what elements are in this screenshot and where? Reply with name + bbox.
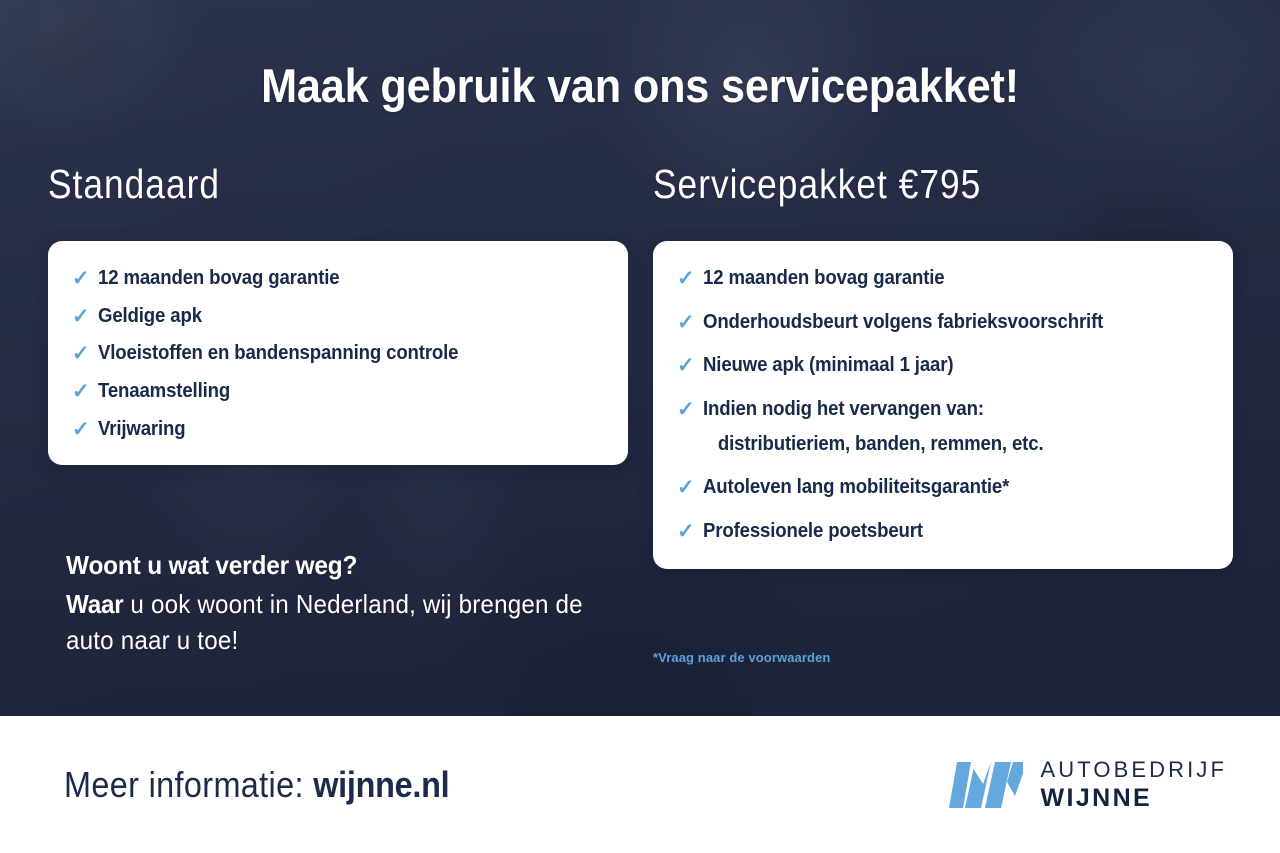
- list-item-label: Onderhoudsbeurt volgens fabrieksvoorschr…: [703, 311, 1103, 335]
- brand-logo-line1: AUTOBEDRIJF: [1041, 759, 1228, 781]
- brand-logo-line2: WIJNNE: [1041, 786, 1228, 811]
- footer-bar: Meer informatie: wijnne.nl AUTOBEDRIJF W…: [0, 716, 1280, 853]
- checkmark-icon: ✓: [72, 306, 90, 327]
- list-item-label: Nieuwe apk (minimaal 1 jaar): [703, 354, 953, 378]
- list-item: ✓ Nieuwe apk (minimaal 1 jaar): [677, 354, 1209, 378]
- wijnne-w-mark-icon: [949, 762, 1023, 808]
- delivery-promo-body-rest: u ook woont in Nederland, wij brengen de…: [66, 589, 583, 655]
- list-item-label: 12 maanden bovag garantie: [703, 267, 944, 291]
- list-item-label: 12 maanden bovag garantie: [98, 267, 339, 291]
- list-item-label: Vrijwaring: [98, 418, 186, 442]
- list-item: ✓ 12 maanden bovag garantie: [72, 267, 604, 291]
- feature-card-servicepakket: ✓ 12 maanden bovag garantie ✓ Onderhouds…: [653, 241, 1233, 569]
- list-item-label-sub: distributieriem, banden, remmen, etc.: [717, 433, 1043, 457]
- delivery-promo: Woont u wat verder weg? Waar u ook woont…: [66, 550, 626, 659]
- column-servicepakket: Servicepakket €795 ✓ 12 maanden bovag ga…: [653, 160, 1233, 569]
- page-title: Maak gebruik van ons servicepakket!: [51, 58, 1229, 113]
- checkmark-icon: ✓: [677, 399, 695, 420]
- checkmark-icon: ✓: [72, 419, 90, 440]
- feature-card-standaard: ✓ 12 maanden bovag garantie ✓ Geldige ap…: [48, 241, 628, 465]
- list-item: ✓ Indien nodig het vervangen van: distri…: [677, 398, 1209, 456]
- list-item: ✓ Vloeistoffen en bandenspanning control…: [72, 342, 604, 366]
- list-item-label: Autoleven lang mobiliteitsgarantie*: [703, 476, 1009, 500]
- brand-logo-words: AUTOBEDRIJF WIJNNE: [1041, 759, 1228, 811]
- list-item: ✓ Autoleven lang mobiliteitsgarantie*: [677, 476, 1209, 500]
- list-item-label: Vloeistoffen en bandenspanning controle: [98, 342, 458, 366]
- checkmark-icon: ✓: [677, 355, 695, 376]
- terms-footnote: *Vraag naar de voorwaarden: [653, 650, 830, 665]
- more-info-text: Meer informatie: wijnne.nl: [64, 764, 449, 806]
- list-item: ✓ Geldige apk: [72, 305, 604, 329]
- delivery-promo-body: Waar u ook woont in Nederland, wij breng…: [66, 587, 587, 659]
- list-item: ✓ 12 maanden bovag garantie: [677, 267, 1209, 291]
- delivery-promo-heading: Woont u wat verder weg?: [66, 550, 592, 581]
- website-url[interactable]: wijnne.nl: [313, 764, 449, 805]
- list-item: ✓ Tenaamstelling: [72, 380, 604, 404]
- column-standaard: Standaard ✓ 12 maanden bovag garantie ✓ …: [48, 160, 628, 465]
- checkmark-icon: ✓: [72, 268, 90, 289]
- column-title-servicepakket: Servicepakket €795: [653, 160, 1152, 209]
- list-item-label: Tenaamstelling: [98, 380, 230, 404]
- list-item-label: Indien nodig het vervangen van: distribu…: [703, 398, 1043, 456]
- delivery-promo-body-bold: Waar: [66, 589, 124, 619]
- list-item: ✓ Onderhoudsbeurt volgens fabrieksvoorsc…: [677, 311, 1209, 335]
- list-item-label-main: Indien nodig het vervangen van:: [703, 398, 984, 420]
- list-item-label: Geldige apk: [98, 305, 202, 329]
- list-item: ✓ Professionele poetsbeurt: [677, 520, 1209, 544]
- brand-logo[interactable]: AUTOBEDRIJF WIJNNE: [949, 759, 1228, 811]
- checkmark-icon: ✓: [72, 381, 90, 402]
- list-item-label: Professionele poetsbeurt: [703, 520, 923, 544]
- column-title-standaard: Standaard: [48, 160, 547, 209]
- checkmark-icon: ✓: [677, 521, 695, 542]
- list-item: ✓ Vrijwaring: [72, 418, 604, 442]
- service-package-banner: Maak gebruik van ons servicepakket! Stan…: [0, 0, 1280, 853]
- more-info-label: Meer informatie:: [64, 764, 313, 805]
- checkmark-icon: ✓: [677, 312, 695, 333]
- checkmark-icon: ✓: [72, 343, 90, 364]
- checkmark-icon: ✓: [677, 268, 695, 289]
- checkmark-icon: ✓: [677, 477, 695, 498]
